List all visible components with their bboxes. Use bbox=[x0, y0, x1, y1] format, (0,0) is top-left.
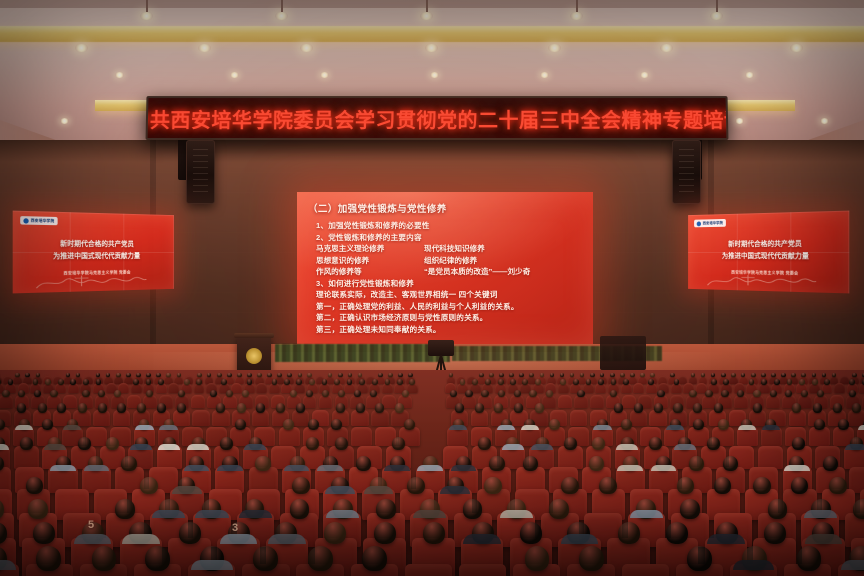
audience-member bbox=[137, 403, 146, 412]
audience-member bbox=[36, 373, 41, 378]
audience-member bbox=[824, 379, 830, 385]
audience-member bbox=[227, 373, 232, 378]
audience-member bbox=[753, 403, 762, 412]
university-logo-left: 西安培华学院 bbox=[20, 216, 57, 225]
audience-member bbox=[731, 373, 736, 378]
slide-line-7: 第三，正确处理未知同奉献的关系。 bbox=[308, 324, 582, 336]
audience-member bbox=[479, 373, 484, 378]
audience-member bbox=[338, 373, 343, 378]
audience-member bbox=[599, 477, 616, 495]
audience-member bbox=[623, 379, 629, 385]
slide-row-pair-1: 马克思主义理论修养 现代科技知识修养 bbox=[308, 243, 582, 255]
audience-shoulders bbox=[531, 444, 553, 450]
audience-member bbox=[177, 403, 186, 412]
audience-member bbox=[140, 477, 157, 495]
audience-member bbox=[475, 403, 484, 412]
light-stem bbox=[716, 0, 718, 12]
audience-member bbox=[761, 379, 767, 385]
audience-member bbox=[78, 403, 87, 412]
audience-member bbox=[356, 456, 371, 471]
audience-member bbox=[256, 403, 265, 412]
audience-member bbox=[570, 373, 575, 378]
audience-shoulders bbox=[130, 444, 152, 450]
audience-member bbox=[38, 403, 47, 412]
audience-shoulders bbox=[502, 444, 524, 450]
audience-member bbox=[290, 390, 297, 397]
audience-member bbox=[823, 456, 838, 471]
audience-member bbox=[121, 456, 136, 471]
audience-member bbox=[774, 379, 780, 385]
auditorium-seat bbox=[256, 383, 267, 393]
side-display-right: 西安培华学院 新时期代合格的共产党员 为推进中国式现代代贡献力量 西安培华学院马… bbox=[688, 211, 849, 294]
loudspeaker-left bbox=[186, 140, 215, 204]
audience-member bbox=[460, 379, 466, 385]
audience-member bbox=[535, 379, 541, 385]
slide-line-5: 第一，正确处理党的利益、人民的利益与个人利益的关系。 bbox=[308, 301, 582, 313]
audience-member bbox=[761, 373, 766, 378]
audience-member bbox=[560, 379, 566, 385]
audience-shoulders bbox=[593, 425, 612, 430]
audience-member bbox=[235, 419, 246, 430]
light-stem bbox=[146, 0, 148, 12]
audience-member bbox=[621, 419, 632, 430]
audience-member bbox=[334, 379, 340, 385]
audience-member bbox=[356, 403, 365, 412]
audience-member bbox=[849, 379, 855, 385]
audience-member bbox=[484, 477, 501, 495]
banner-text: 中共西安培华学院委员会学习贯彻党的二十届三中全会精神专题培训 bbox=[146, 104, 729, 133]
audience-member bbox=[723, 379, 729, 385]
audience-member bbox=[514, 403, 523, 412]
seat-number-label: 5 bbox=[88, 519, 94, 531]
downlight-icon bbox=[640, 72, 649, 78]
audience-shoulders bbox=[451, 465, 477, 471]
calligraphy-flourish-icon-right bbox=[706, 272, 818, 290]
audience-shoulders bbox=[244, 444, 266, 450]
audience-member bbox=[812, 379, 818, 385]
audience-shoulders bbox=[674, 444, 696, 450]
auditorium-seat bbox=[192, 410, 209, 426]
video-camera-icon bbox=[428, 340, 454, 356]
audience-member bbox=[751, 373, 756, 378]
audience-member bbox=[564, 437, 577, 450]
audience-member bbox=[549, 419, 560, 430]
lectern-emblem-icon bbox=[246, 348, 262, 364]
slide-line-3: 3、如何进行党性锻炼和修养 bbox=[308, 278, 582, 290]
side-title-line1-right: 新时期代合格的共产党员 bbox=[688, 238, 849, 250]
audience-member bbox=[98, 390, 105, 397]
audience-member bbox=[550, 373, 555, 378]
audience-member bbox=[308, 419, 319, 430]
led-scrolling-banner: 中共西安培华学院委员会学习贯彻党的二十届三中全会精神专题培训 bbox=[146, 96, 729, 140]
audience-member bbox=[718, 419, 729, 430]
audience-member bbox=[630, 373, 635, 378]
audience-member bbox=[791, 477, 808, 495]
audience-shoulders bbox=[15, 425, 34, 430]
audience-member bbox=[674, 379, 680, 385]
audience-seating: 5 3 bbox=[0, 370, 864, 576]
audience-member bbox=[689, 456, 704, 471]
audience-member bbox=[58, 379, 64, 385]
main-projection-screen: （二）加强党性锻炼与党性修养 1、加强党性锻炼和修养的必要性 2、党性锻炼和修养… bbox=[297, 192, 593, 344]
audience-member bbox=[255, 456, 270, 471]
audience-member bbox=[96, 379, 102, 385]
audience-member bbox=[792, 403, 801, 412]
foreground-shadow bbox=[0, 506, 864, 576]
audience-member bbox=[465, 390, 472, 397]
audience-member bbox=[791, 373, 796, 378]
auditorium-seat bbox=[0, 395, 13, 408]
audience-member bbox=[753, 477, 770, 495]
audience-member bbox=[689, 390, 696, 397]
audience-shoulders bbox=[84, 465, 110, 471]
slide-line-2: 2、党性锻炼和修养的主要内容 bbox=[308, 232, 582, 244]
audience-member bbox=[509, 373, 514, 378]
audience-member bbox=[247, 373, 252, 378]
audience-shoulders bbox=[158, 444, 180, 450]
audience-member bbox=[287, 373, 292, 378]
audience-member bbox=[237, 373, 242, 378]
audience-shoulders bbox=[364, 486, 393, 493]
audience-shoulders bbox=[666, 425, 685, 430]
audience-member bbox=[813, 403, 822, 412]
audience-member bbox=[398, 373, 403, 378]
audience-member bbox=[397, 379, 403, 385]
slide-row-pair-2: 思想意识的修养 组织纪律的修养 bbox=[308, 255, 582, 267]
audience-member bbox=[309, 379, 315, 385]
audience-member bbox=[292, 477, 309, 495]
audience-member bbox=[721, 390, 728, 397]
downlight-icon bbox=[115, 72, 124, 78]
audience-member bbox=[220, 437, 233, 450]
loudspeaker-right bbox=[672, 140, 701, 204]
logo-mark-icon-right bbox=[697, 221, 701, 226]
auditorium-seat bbox=[447, 427, 468, 446]
audience-member bbox=[711, 379, 717, 385]
university-logo-right: 西安培华学院 bbox=[694, 219, 726, 227]
downlight-icon bbox=[275, 12, 288, 20]
audience-member bbox=[221, 379, 227, 385]
audience-member bbox=[197, 373, 202, 378]
audience-member bbox=[529, 373, 534, 378]
audience-shoulders bbox=[44, 444, 66, 450]
audience-member bbox=[247, 379, 253, 385]
auditorium-seat bbox=[737, 427, 758, 446]
auditorium-seat bbox=[834, 383, 845, 393]
audience-member bbox=[82, 390, 89, 397]
downlight-icon bbox=[60, 118, 69, 124]
audience-shoulders bbox=[617, 465, 643, 471]
auditorium-seat bbox=[570, 410, 587, 426]
audience-member bbox=[26, 477, 43, 495]
auditorium-seat bbox=[351, 427, 372, 446]
slide-col-left-2: 思想意识的修养 bbox=[316, 255, 424, 267]
audience-shoulders bbox=[784, 465, 810, 471]
audience-member bbox=[814, 419, 825, 430]
audience-member bbox=[611, 379, 617, 385]
audience-member bbox=[589, 456, 604, 471]
audience-member bbox=[707, 437, 720, 450]
audience-shoulders bbox=[384, 465, 410, 471]
audience-member bbox=[242, 390, 249, 397]
wall-top-shadow bbox=[0, 140, 864, 162]
audience-member bbox=[770, 390, 777, 397]
audience-member bbox=[116, 373, 121, 378]
audience-member bbox=[838, 419, 849, 430]
audience-member bbox=[2, 390, 9, 397]
stage-equipment-case bbox=[600, 336, 646, 370]
audience-member bbox=[136, 373, 141, 378]
downlight-icon bbox=[570, 12, 583, 20]
audience-member bbox=[50, 390, 57, 397]
audience-member bbox=[402, 390, 409, 397]
audience-member bbox=[753, 390, 760, 397]
downlight-icon bbox=[710, 12, 723, 20]
audience-member bbox=[354, 390, 361, 397]
auditorium-seat bbox=[191, 395, 205, 408]
audience-shoulders bbox=[159, 425, 178, 430]
audience-member bbox=[620, 373, 625, 378]
audience-member bbox=[610, 390, 617, 397]
audience-member bbox=[404, 419, 415, 430]
audience-member bbox=[577, 390, 584, 397]
audience-member bbox=[523, 456, 538, 471]
audience-member bbox=[210, 390, 217, 397]
audience-member bbox=[714, 403, 723, 412]
downlight-icon bbox=[820, 118, 829, 124]
audience-member bbox=[296, 379, 302, 385]
audience-member bbox=[489, 456, 504, 471]
audience-member bbox=[392, 437, 405, 450]
downlight-icon bbox=[75, 44, 88, 52]
audience-shoulders bbox=[417, 465, 443, 471]
audience-member bbox=[216, 403, 225, 412]
audience-member bbox=[546, 390, 553, 397]
audience-member bbox=[498, 390, 505, 397]
audience-member bbox=[529, 390, 536, 397]
ceiling-panel-seam bbox=[0, 0, 864, 8]
audience-member bbox=[489, 373, 494, 378]
audience-member bbox=[395, 403, 404, 412]
audience-shoulders bbox=[325, 486, 354, 493]
side-title-line2: 为推进中国式现代代贡献力量 bbox=[13, 250, 174, 262]
audience-member bbox=[714, 477, 731, 495]
audience-member bbox=[156, 373, 161, 378]
auditorium-seat bbox=[319, 395, 333, 408]
audience-member bbox=[590, 373, 595, 378]
audience-member bbox=[106, 437, 119, 450]
audience-member bbox=[648, 379, 654, 385]
auditorium-seat bbox=[761, 427, 782, 446]
audience-shoulders bbox=[845, 444, 864, 450]
audience-shoulders bbox=[172, 486, 201, 493]
audience-member bbox=[535, 403, 544, 412]
audience-member bbox=[852, 403, 861, 412]
audience-member bbox=[510, 379, 516, 385]
downlight-icon bbox=[425, 44, 438, 52]
audience-member bbox=[42, 419, 53, 430]
audience-member bbox=[78, 437, 91, 450]
audience-member bbox=[83, 379, 89, 385]
audience-member bbox=[852, 373, 857, 378]
audience-member bbox=[335, 437, 348, 450]
audience-member bbox=[705, 390, 712, 397]
auditorium-photo: 中共西安培华学院委员会学习贯彻党的二十届三中全会精神专题培训 西安培华学院 新时… bbox=[0, 0, 864, 576]
side-title-line2-right: 为推进中国式现代代贡献力量 bbox=[688, 250, 849, 262]
audience-member bbox=[306, 390, 313, 397]
presentation-slide: （二）加强党性锻炼与党性修养 1、加强党性锻炼和修养的必要性 2、党性锻炼和修养… bbox=[297, 192, 593, 344]
audience-member bbox=[449, 373, 454, 378]
auditorium-seat bbox=[758, 446, 783, 469]
audience-member bbox=[499, 373, 504, 378]
auditorium-seat bbox=[633, 383, 644, 393]
side-slide-title-right: 新时期代合格的共产党员 为推进中国式现代代贡献力量 bbox=[688, 238, 849, 263]
audience-member bbox=[409, 379, 415, 385]
audience-member bbox=[498, 379, 504, 385]
slide-row-pair-3: 作风的修养等 “是党员本质的改造”——刘少奇 bbox=[308, 266, 582, 278]
logo-text: 西安培华学院 bbox=[31, 218, 55, 224]
audience-member bbox=[829, 477, 846, 495]
downlight-icon bbox=[140, 12, 153, 20]
audience-member bbox=[573, 379, 579, 385]
audience-member bbox=[34, 390, 41, 397]
audience-member bbox=[478, 437, 491, 450]
audience-member bbox=[781, 373, 786, 378]
auditorium-seat bbox=[809, 427, 830, 446]
audience-member bbox=[126, 373, 131, 378]
audience-member bbox=[158, 379, 164, 385]
side-slide-title-left: 新时期代合格的共产党员 为推进中国式现代代贡献力量 bbox=[13, 238, 174, 263]
audience-member bbox=[592, 437, 605, 450]
audience-shoulders bbox=[50, 465, 76, 471]
audience-member bbox=[640, 373, 645, 378]
audience-member bbox=[359, 379, 365, 385]
audience-member bbox=[372, 379, 378, 385]
audience-member bbox=[673, 403, 682, 412]
audience-member bbox=[196, 379, 202, 385]
downlight-icon bbox=[548, 44, 561, 52]
slide-col-left-3: 作风的修养等 bbox=[316, 266, 424, 278]
slide-line-4: 理论联系实际，改造主、客观世界相统一 四个关键词 bbox=[308, 289, 582, 301]
audience-member bbox=[8, 379, 14, 385]
side-display-left: 西安培华学院 新时期代合格的共产党员 为推进中国式现代代贡献力量 西安培华学院马… bbox=[13, 211, 174, 294]
slide-col-right-1: 现代科技知识修养 bbox=[424, 243, 582, 255]
audience-member bbox=[598, 379, 604, 385]
audience-member bbox=[166, 373, 171, 378]
auditorium-seat bbox=[542, 395, 556, 408]
audience-member bbox=[331, 419, 342, 430]
audience-member bbox=[519, 373, 524, 378]
audience-member bbox=[721, 373, 726, 378]
audience-member bbox=[336, 403, 345, 412]
audience-member bbox=[540, 373, 545, 378]
slide-heading: （二）加强党性锻炼与党性修养 bbox=[308, 201, 582, 215]
audience-member bbox=[20, 437, 33, 450]
calligraphy-flourish-icon bbox=[34, 272, 147, 290]
wood-seam bbox=[0, 172, 864, 173]
downlight-icon bbox=[735, 118, 744, 124]
audience-member bbox=[237, 403, 246, 412]
downlight-icon bbox=[540, 72, 549, 78]
audience-member bbox=[277, 373, 282, 378]
audience-member bbox=[771, 373, 776, 378]
audience-member bbox=[15, 373, 20, 378]
audience-shoulders bbox=[651, 465, 677, 471]
auditorium-seat bbox=[590, 395, 604, 408]
audience-member bbox=[787, 379, 793, 385]
audience-member bbox=[749, 379, 755, 385]
audience-member bbox=[586, 379, 592, 385]
slide-line-6: 第二，正确认识市场经济原则与党性原则的关系。 bbox=[308, 312, 582, 324]
audience-shoulders bbox=[440, 486, 469, 493]
audience-member bbox=[322, 379, 328, 385]
audience-member bbox=[272, 379, 278, 385]
audience-member bbox=[677, 477, 694, 495]
audience-shoulders bbox=[184, 465, 210, 471]
audience-member bbox=[375, 403, 384, 412]
audience-member bbox=[307, 373, 312, 378]
audience-shoulders bbox=[738, 425, 757, 430]
audience-member bbox=[522, 379, 528, 385]
audience-member bbox=[146, 373, 151, 378]
side-title-line1: 新时期代合格的共产党员 bbox=[13, 238, 174, 250]
audience-member bbox=[610, 373, 615, 378]
audience-member bbox=[388, 373, 393, 378]
audience-member bbox=[114, 390, 121, 397]
audience-member bbox=[792, 437, 805, 450]
downlight-icon bbox=[745, 72, 754, 78]
downlight-icon bbox=[320, 72, 329, 78]
audience-member bbox=[455, 403, 464, 412]
audience-member bbox=[33, 379, 39, 385]
audience-member bbox=[157, 403, 166, 412]
slide-col-left-1: 马克思主义理论修养 bbox=[316, 243, 424, 255]
audience-member bbox=[561, 477, 578, 495]
light-stem bbox=[281, 0, 283, 12]
audience-member bbox=[17, 403, 26, 412]
lectern-top bbox=[234, 333, 274, 338]
downlight-icon bbox=[198, 44, 211, 52]
audience-member bbox=[693, 403, 702, 412]
slide-line-1: 1、加强党性锻炼和修养的必要性 bbox=[308, 220, 582, 232]
downlight-icon bbox=[790, 44, 803, 52]
audience-shoulders bbox=[284, 465, 310, 471]
light-stem bbox=[576, 0, 578, 12]
auditorium-seat bbox=[574, 395, 588, 408]
auditorium-seat bbox=[734, 395, 748, 408]
audience-member bbox=[267, 373, 272, 378]
audience-member bbox=[57, 403, 66, 412]
audience-shoulders bbox=[135, 425, 154, 430]
audience-member bbox=[117, 403, 126, 412]
audience-member bbox=[385, 379, 391, 385]
audience-member bbox=[407, 477, 424, 495]
audience-member bbox=[284, 379, 290, 385]
audience-member bbox=[98, 403, 107, 412]
audience-member bbox=[654, 403, 663, 412]
audience-member bbox=[670, 373, 675, 378]
audience-shoulders bbox=[762, 425, 781, 430]
audience-member bbox=[799, 379, 805, 385]
auditorium-seat bbox=[558, 395, 572, 408]
audience-member bbox=[494, 403, 503, 412]
audience-shoulders bbox=[449, 425, 468, 430]
audience-shoulders bbox=[217, 465, 243, 471]
audience-member bbox=[649, 437, 662, 450]
audience-member bbox=[25, 373, 30, 378]
downlight-icon bbox=[430, 72, 439, 78]
audience-member bbox=[634, 403, 643, 412]
